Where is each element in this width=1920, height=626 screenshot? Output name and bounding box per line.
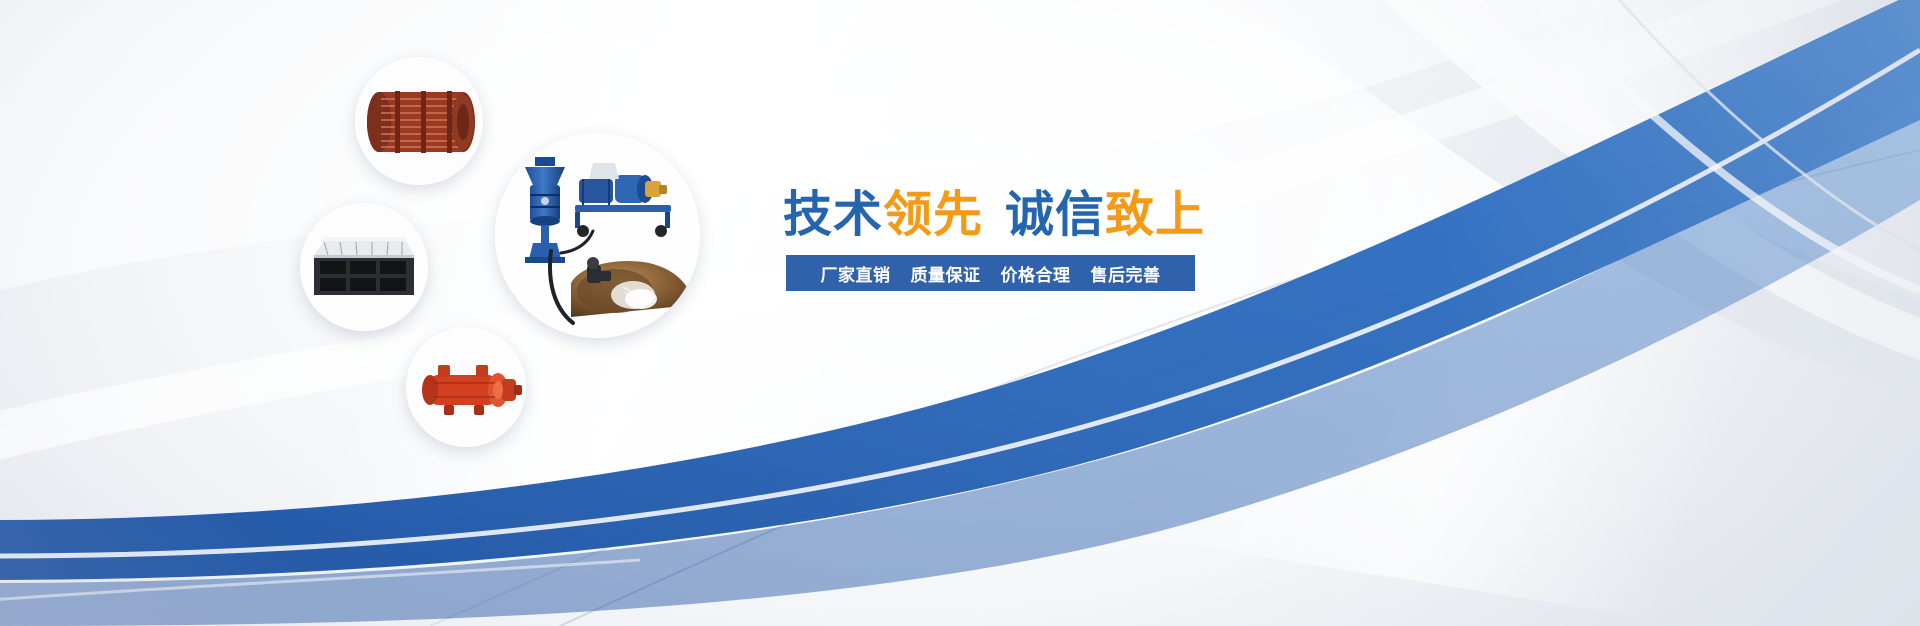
headline-segment-4: 致上 <box>1105 188 1205 242</box>
headline-segment-2: 领先 <box>883 188 983 242</box>
red-cooler-image <box>406 327 526 447</box>
cleaning-equipment-image <box>495 133 700 338</box>
tube-bundle-image <box>355 57 483 185</box>
plate-cooler-image <box>300 203 428 331</box>
promotional-banner: 技术领先诚信致上 厂家直销 质量保证 价格合理 售后完善 <box>0 0 1920 626</box>
product-circle-plate-cooler <box>300 203 428 331</box>
background-swoosh-graphics <box>0 0 1920 626</box>
headline-segment-1: 技术 <box>783 188 883 242</box>
tagline-item-quality-guarantee: 质量保证 <box>901 261 991 286</box>
tagline-item-factory-direct: 厂家直销 <box>811 261 901 286</box>
headline-segment-3: 诚信 <box>1005 188 1105 242</box>
tagline-item-fair-price: 价格合理 <box>991 261 1081 286</box>
product-circle-tube-bundle <box>355 57 483 185</box>
page-title: 技术领先诚信致上 <box>783 186 1205 244</box>
product-circle-red-cooler <box>406 327 526 447</box>
product-circle-cleaning-equipment <box>495 133 700 338</box>
tagline-bar: 厂家直销 质量保证 价格合理 售后完善 <box>786 255 1195 291</box>
tagline-item-after-sales: 售后完善 <box>1081 261 1171 286</box>
